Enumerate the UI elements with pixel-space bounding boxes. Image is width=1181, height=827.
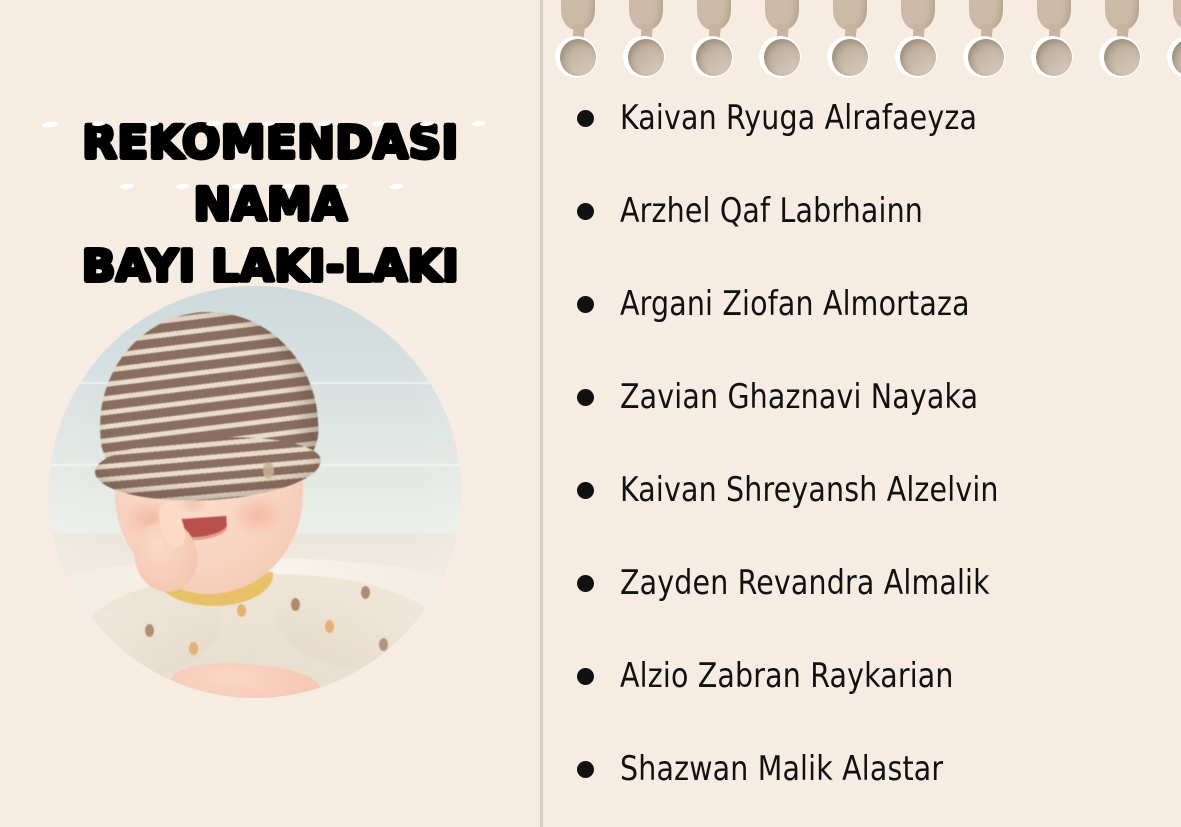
name-list: Kaivan Ryuga AlrafaeyzaArzhel Qaf Labrha… xyxy=(544,0,1181,827)
page-title-line-1: REKOMENDASI NAMA xyxy=(0,112,541,236)
list-item: Zavian Ghaznavi Nayaka xyxy=(544,375,1181,419)
photo-beanie-knob xyxy=(263,462,274,479)
baby-name-text: Alzio Zabran Raykarian xyxy=(620,656,954,696)
list-bullet-icon xyxy=(577,761,594,778)
poster-canvas: REKOMENDASI NAMA BAYI LAKI-LAKI xyxy=(0,0,1181,827)
left-panel: REKOMENDASI NAMA BAYI LAKI-LAKI xyxy=(0,0,541,827)
photo-onesie-dot xyxy=(111,658,120,671)
page-title: REKOMENDASI NAMA BAYI LAKI-LAKI xyxy=(0,112,541,298)
photo-onesie-dot xyxy=(401,672,410,685)
list-item: Kaivan Shreyansh Alzelvin xyxy=(544,468,1181,512)
photo-onesie-dot xyxy=(291,598,300,611)
baby-name-text: Kaivan Shreyansh Alzelvin xyxy=(620,470,999,510)
photo-onesie-dot xyxy=(189,642,198,655)
photo-onesie-dot xyxy=(361,586,370,599)
vertical-divider xyxy=(540,0,543,827)
baby-name-text: Argani Ziofan Almortaza xyxy=(620,284,970,324)
list-item: Shazwan Malik Alastar xyxy=(544,747,1181,791)
photo-onesie-dot xyxy=(379,638,388,651)
photo-onesie-dot xyxy=(145,624,154,637)
list-bullet-icon xyxy=(577,389,594,406)
photo-cheek xyxy=(231,494,285,536)
baby-name-text: Zavian Ghaznavi Nayaka xyxy=(620,377,978,417)
photo-onesie-dot xyxy=(325,620,334,633)
list-item: Arzhel Qaf Labrhainn xyxy=(544,189,1181,233)
list-bullet-icon xyxy=(577,110,594,127)
baby-name-text: Zayden Revandra Almalik xyxy=(620,563,990,603)
baby-name-text: Arzhel Qaf Labrhainn xyxy=(620,191,923,231)
list-item: Zayden Revandra Almalik xyxy=(544,561,1181,605)
baby-name-text: Kaivan Ryuga Alrafaeyza xyxy=(620,98,977,138)
list-bullet-icon xyxy=(577,296,594,313)
list-item: Argani Ziofan Almortaza xyxy=(544,282,1181,326)
photo-onesie-dot xyxy=(237,604,246,617)
right-panel: Kaivan Ryuga AlrafaeyzaArzhel Qaf Labrha… xyxy=(544,0,1181,827)
list-bullet-icon xyxy=(577,482,594,499)
baby-photo xyxy=(49,286,461,698)
list-item: Alzio Zabran Raykarian xyxy=(544,654,1181,698)
list-bullet-icon xyxy=(577,668,594,685)
list-item: Kaivan Ryuga Alrafaeyza xyxy=(544,96,1181,140)
list-bullet-icon xyxy=(577,203,594,220)
list-bullet-icon xyxy=(577,575,594,592)
baby-name-text: Shazwan Malik Alastar xyxy=(620,749,943,789)
